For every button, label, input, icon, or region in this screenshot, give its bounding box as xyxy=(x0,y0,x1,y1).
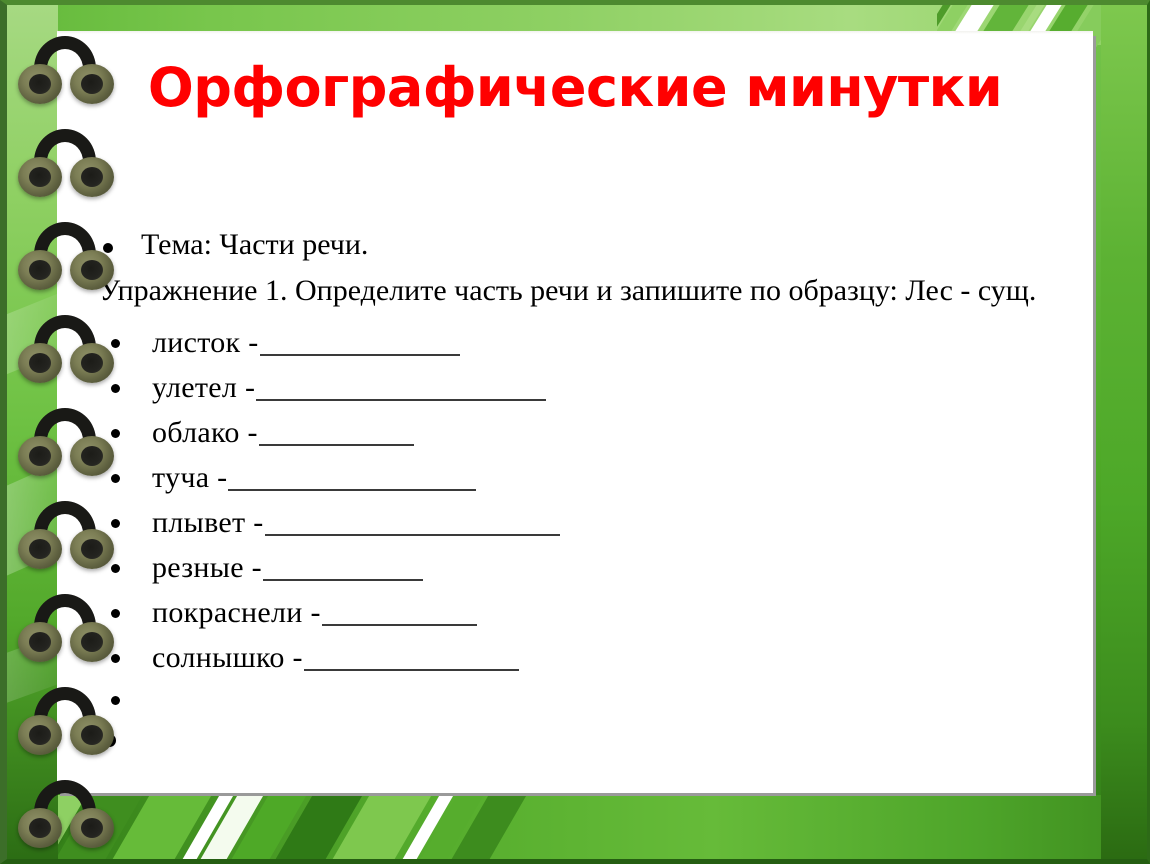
bullet-icon xyxy=(111,654,120,663)
answer-blank-line[interactable] xyxy=(256,378,546,401)
instruction-text: Упражнение 1. Определите часть речи и за… xyxy=(99,274,1036,307)
theme-line-text: Тема: Части речи. xyxy=(141,228,368,261)
answer-blank-line[interactable] xyxy=(259,423,414,446)
bullet-icon xyxy=(111,474,120,483)
answer-blank-line[interactable] xyxy=(322,603,477,626)
answer-blank-line[interactable] xyxy=(260,333,460,356)
answer-blank-line[interactable] xyxy=(263,558,423,581)
bullet-icon xyxy=(103,734,116,747)
word-list-item: облако - xyxy=(57,410,1093,455)
answer-blank-line[interactable] xyxy=(304,648,519,671)
bullet-icon xyxy=(111,609,120,618)
instruction-paragraph: Упражнение 1. Определите часть речи и за… xyxy=(57,272,1093,310)
bullet-icon xyxy=(111,519,120,528)
word-label: солнышко - xyxy=(152,641,303,674)
answer-blank-line[interactable] xyxy=(265,513,560,536)
word-label: плывет - xyxy=(152,506,264,539)
word-label: листок - xyxy=(152,326,259,359)
word-label: туча - xyxy=(152,461,227,494)
word-list-item: плывет - xyxy=(57,500,1093,545)
word-list: листок -улетел -облако -туча -плывет -ре… xyxy=(57,320,1093,764)
bullet-icon xyxy=(111,429,120,438)
bullet-icon xyxy=(111,696,120,705)
word-list-item: солнышко - xyxy=(57,635,1093,680)
empty-list-item xyxy=(57,724,1093,764)
slide: Орфографические минутки Тема: Части речи… xyxy=(0,0,1150,864)
word-label: облако - xyxy=(152,416,258,449)
word-list-item: покраснели - xyxy=(57,590,1093,635)
word-label: улетел - xyxy=(152,371,255,404)
content-body: Тема: Части речи. Упражнение 1. Определи… xyxy=(57,230,1093,764)
word-label: резные - xyxy=(152,551,262,584)
word-label: покраснели - xyxy=(152,596,321,629)
word-list-item: листок - xyxy=(57,320,1093,365)
empty-list-item xyxy=(57,680,1093,724)
page-top-edge xyxy=(57,31,1093,34)
theme-line-item: Тема: Части речи. xyxy=(57,230,1093,260)
word-list-item: резные - xyxy=(57,545,1093,590)
word-list-item: улетел - xyxy=(57,365,1093,410)
bullet-icon xyxy=(111,384,120,393)
bullet-icon xyxy=(103,243,113,253)
page-title: Орфографические минутки xyxy=(57,60,1093,117)
bullet-icon xyxy=(111,339,120,348)
bullet-icon xyxy=(111,564,120,573)
word-list-item: туча - xyxy=(57,455,1093,500)
answer-blank-line[interactable] xyxy=(228,468,476,491)
